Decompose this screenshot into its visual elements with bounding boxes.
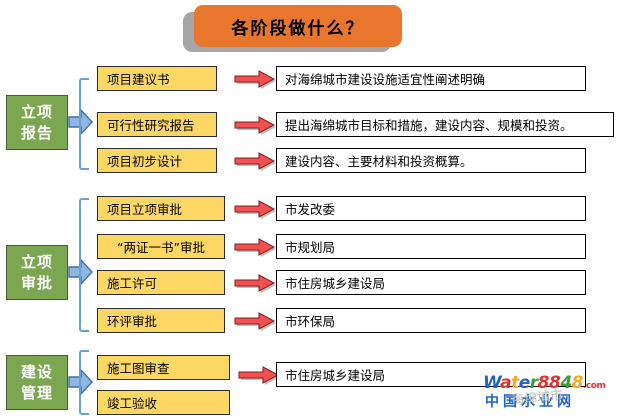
stage-label-3-line2: 管理 [21,383,53,403]
item-label: 施工许可 [107,273,157,292]
red-arrow-1-1 [232,68,276,90]
desc-box-2-2: 市规划局 [276,234,586,259]
desc-label: 市住房城乡建设局 [285,365,385,384]
item-box-3-1[interactable]: 施工图审查 [97,355,230,380]
item-box-1-3[interactable]: 项目初步设计 [97,148,217,173]
item-label: 项目建议书 [107,69,170,88]
watermark: Water8848.com 中国水业网 海绵城市 [483,375,619,415]
item-box-3-2[interactable]: 竣工验收 [97,390,230,415]
item-label: 环评审批 [107,311,157,330]
desc-box-1-3: 建设内容、主要材料和投资概算。 [276,148,586,173]
item-label: “两证一书”审批 [117,237,205,256]
item-box-1-2[interactable]: 可行性研究报告 [97,112,217,137]
item-label: 项目立项审批 [107,199,182,218]
item-label: 竣工验收 [107,393,157,412]
title-banner: 各阶段做什么？ [194,5,402,47]
desc-label: 市发改委 [285,199,335,218]
item-box-1-1[interactable]: 项目建议书 [97,66,217,91]
desc-box-2-3: 市住房城乡建设局 [276,270,586,295]
desc-label: 市规划局 [285,237,335,256]
desc-box-2-4: 市环保局 [276,308,586,333]
desc-box-2-1: 市发改委 [276,196,586,221]
item-box-2-3[interactable]: 施工许可 [97,270,225,295]
stage-label-2-line2: 审批 [21,273,53,293]
bracket-1 [79,78,89,170]
desc-label: 市住房城乡建设局 [285,273,385,292]
item-label: 施工图审查 [107,358,170,377]
stage-label-1-line1: 立项 [21,102,53,122]
red-arrow-2-4 [232,310,276,332]
desc-label: 市环保局 [285,311,335,330]
item-box-2-1[interactable]: 项目立项审批 [97,196,225,221]
red-arrow-3-1 [236,364,280,386]
red-arrow-2-1 [232,198,276,220]
stage-label-2-line1: 立项 [21,252,53,272]
watermark-letter-w: W [483,373,500,393]
title-text: 各阶段做什么？ [232,14,365,39]
watermark-num-8: 8 [572,373,583,393]
red-arrow-2-2 [232,236,276,258]
bracket-3 [79,350,89,415]
stage-label-3-line1: 建设 [21,362,53,382]
desc-box-1-2: 提出海绵城市目标和措施，建设内容、规模和投资。 [276,112,614,137]
item-label: 可行性研究报告 [107,115,195,134]
stage-box-2: 立项 审批 [6,245,68,300]
red-arrow-2-3 [232,272,276,294]
stage-box-1: 立项 报告 [6,95,68,150]
desc-label: 对海绵城市建设设施适宜性阐述明确 [285,69,485,88]
bracket-2 [79,198,89,332]
item-box-2-2[interactable]: “两证一书”审批 [97,234,225,259]
stage-box-3: 建设 管理 [6,355,68,410]
desc-label: 建设内容、主要材料和投资概算。 [285,151,473,170]
stage-label-1-line2: 报告 [21,123,53,143]
red-arrow-1-3 [232,150,276,172]
desc-label: 提出海绵城市目标和措施，建设内容、规模和投资。 [285,115,573,134]
flowchart-canvas: 各阶段做什么？ 立项 报告 项目建议书 对海绵城市建设设施适宜性阐述明确 可行性… [0,0,621,419]
desc-box-1-1: 对海绵城市建设设施适宜性阐述明确 [276,66,586,91]
item-label: 项目初步设计 [107,151,182,170]
red-arrow-1-2 [232,114,276,136]
item-box-2-4[interactable]: 环评审批 [97,308,225,333]
watermark-dotcom: .com [583,381,605,391]
